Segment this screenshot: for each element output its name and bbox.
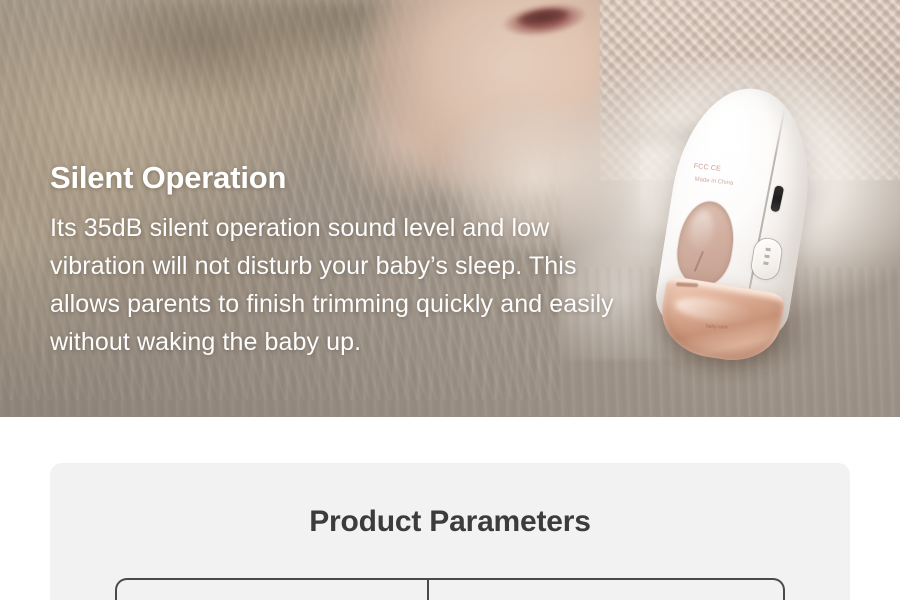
table-row-label (117, 580, 427, 600)
product-base-marking: baby care (706, 323, 728, 330)
hero-copy-block: Silent Operation Its 35dB silent operati… (50, 158, 640, 361)
product-switch-grip (762, 248, 770, 271)
product-parameters-table (115, 578, 785, 600)
hero-banner: FCC CE Made in China baby care Silent Op… (0, 0, 900, 417)
table-row-value (427, 580, 783, 600)
product-blade (694, 251, 704, 272)
product-parameters-panel: Product Parameters (50, 463, 850, 600)
hero-description: Its 35dB silent operation sound level an… (50, 209, 630, 361)
product-parameters-heading: Product Parameters (50, 463, 850, 540)
product-base-gloss (673, 293, 753, 327)
hero-heading: Silent Operation (50, 158, 640, 198)
